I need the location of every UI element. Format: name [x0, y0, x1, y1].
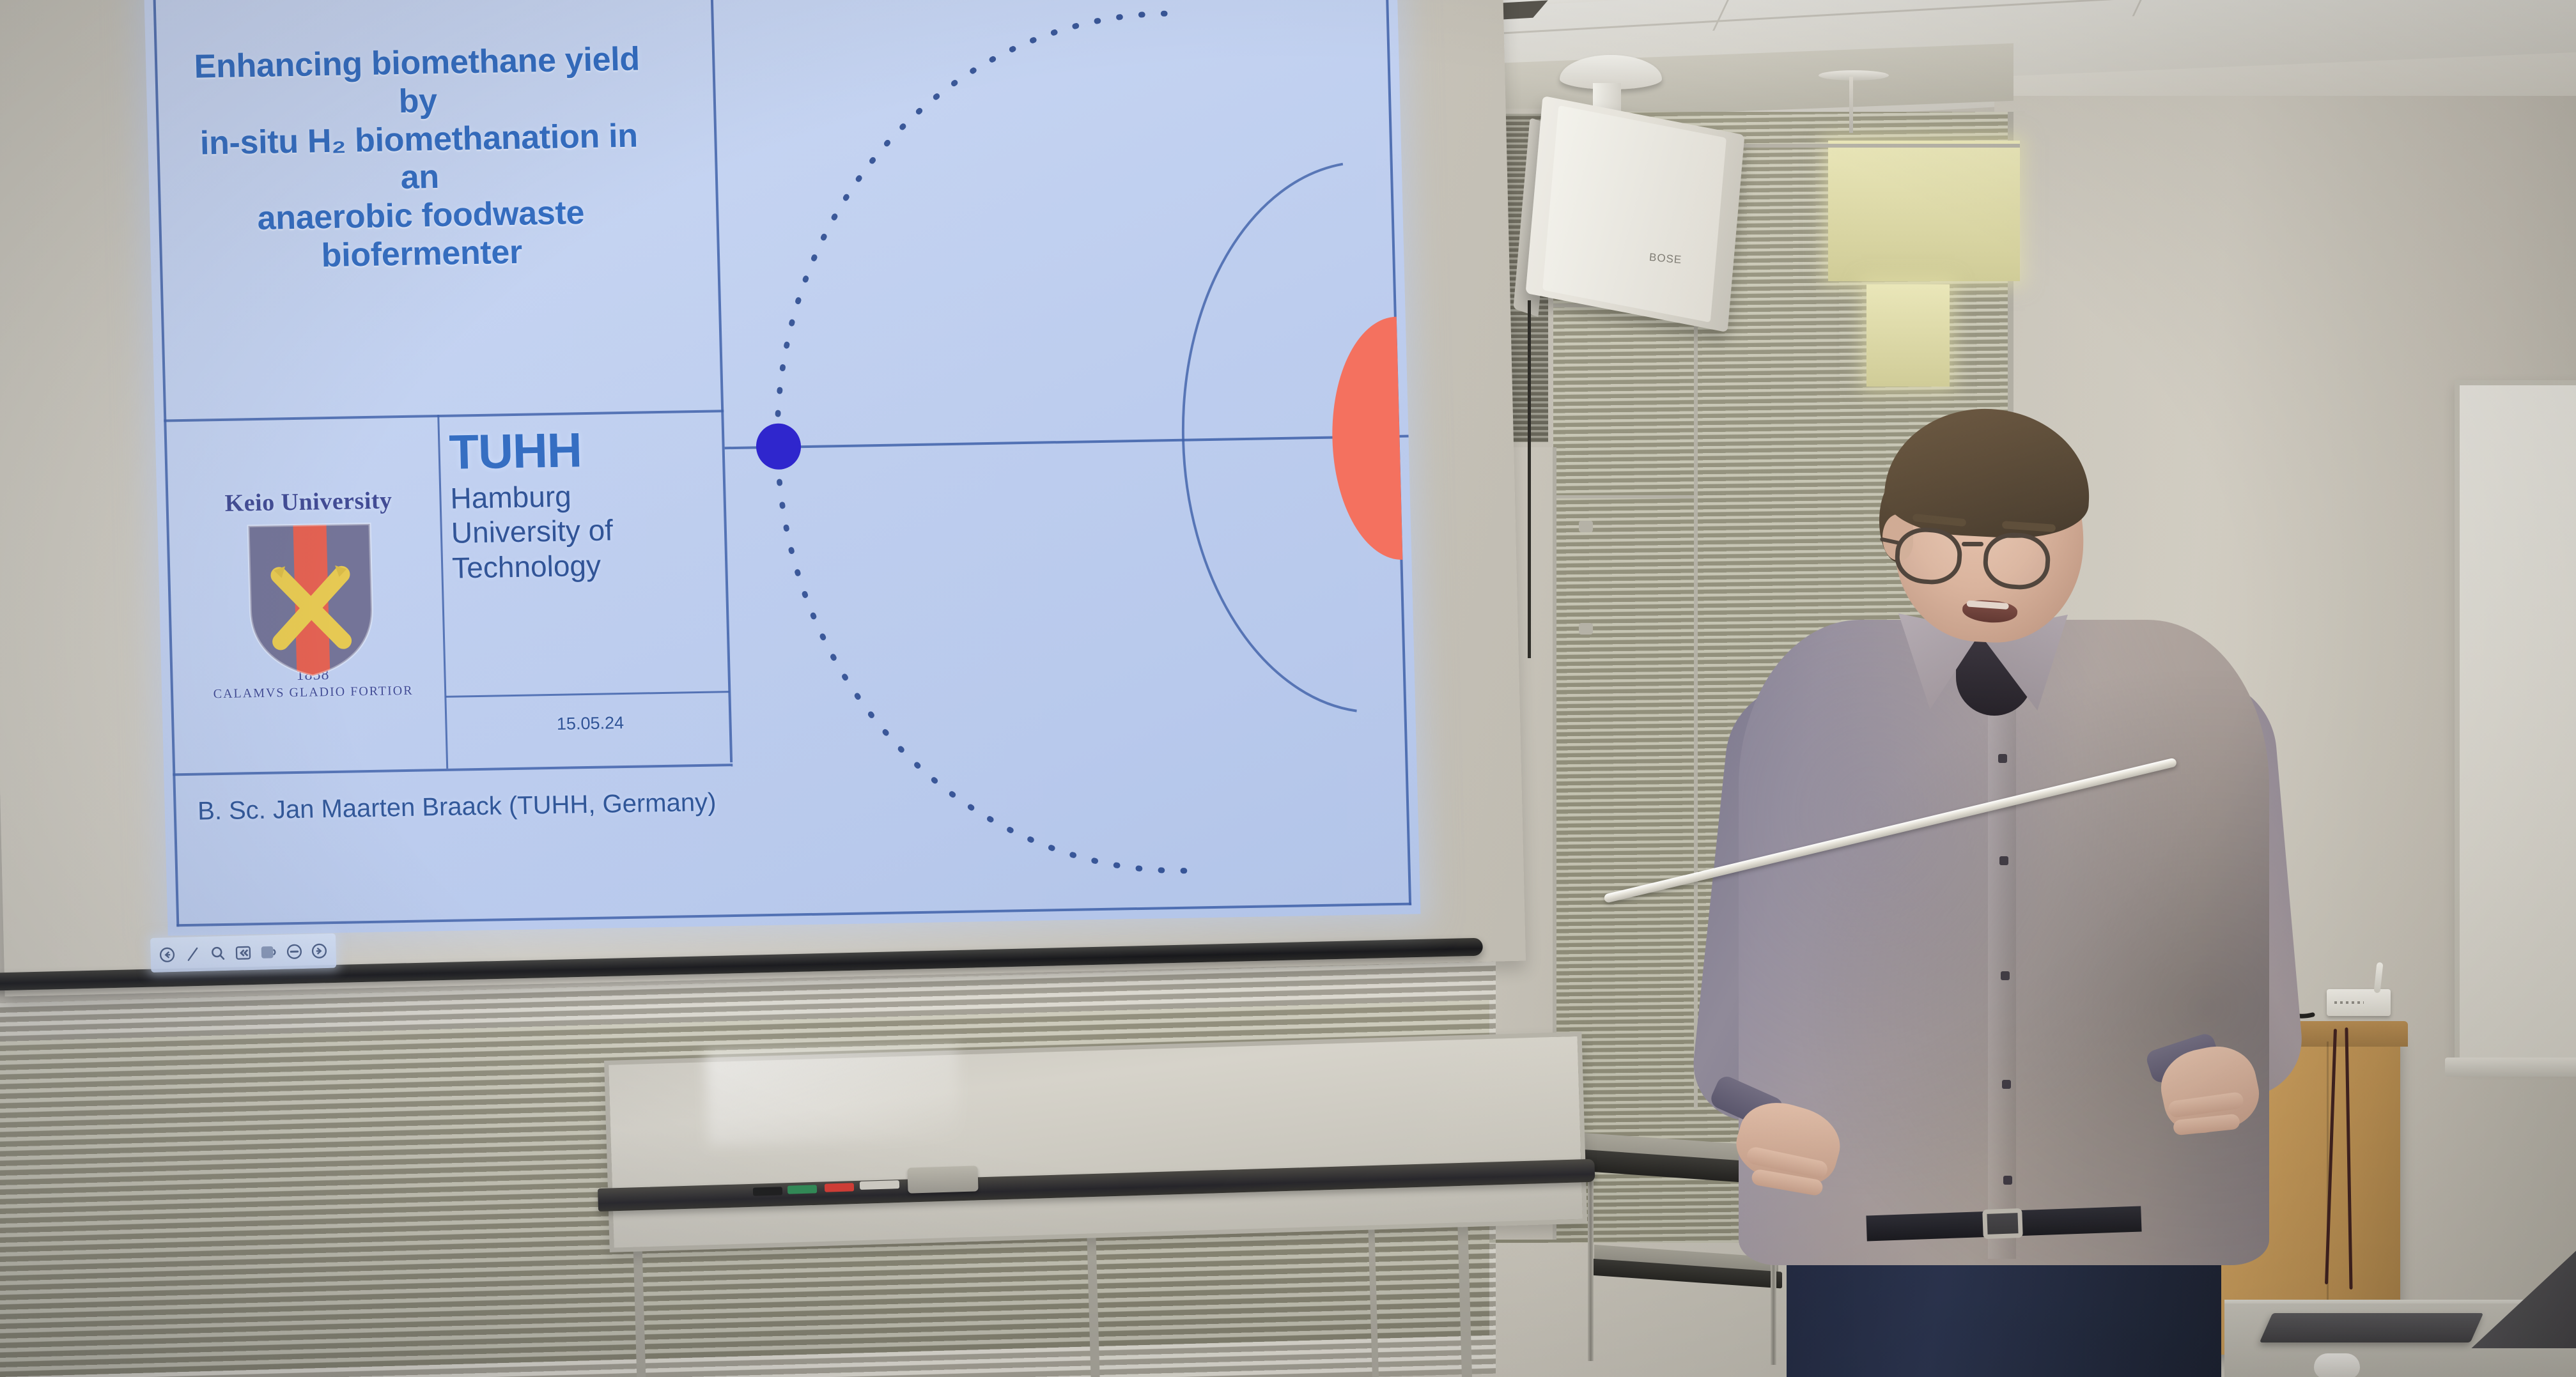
- shirt-button-4: [2002, 1080, 2011, 1089]
- presenter-person: [1688, 409, 2365, 1377]
- slide-title-line-2: in-situ H₂ biomethanation in an: [195, 117, 644, 201]
- wall-whiteboard-right-tray: [2445, 1058, 2576, 1077]
- tuhh-line-3: Technology: [452, 546, 721, 585]
- hide-icon[interactable]: [285, 942, 303, 962]
- wall-whiteboard-right: [2455, 380, 2576, 1064]
- projected-slide: Enhancing biomethane yield by in-situ H₂…: [144, 0, 1420, 936]
- dotted-arc: [766, 13, 1186, 877]
- slide-divider-horizontal-upper: [164, 410, 724, 422]
- belt-buckle: [1982, 1208, 2023, 1239]
- shirt-button-3: [2001, 971, 2010, 980]
- marker-red[interactable]: [825, 1183, 854, 1192]
- tuhh-logo: TUHH Hamburg University of Technology: [449, 424, 724, 696]
- sprinkler-icon: [1819, 70, 1889, 81]
- solid-arc: [1176, 164, 1356, 714]
- marker-white[interactable]: [860, 1180, 899, 1190]
- previous-slide-icon[interactable]: [234, 943, 252, 963]
- slide-title: Enhancing biomethane yield by in-situ H₂…: [193, 40, 646, 277]
- lecture-room-scene: Enhancing biomethane yield by in-situ H₂…: [0, 0, 2576, 1377]
- pen-icon[interactable]: [183, 944, 201, 964]
- marker-green[interactable]: [788, 1185, 817, 1194]
- blue-dot: [756, 423, 802, 470]
- shirt-button-1: [1998, 754, 2007, 763]
- marker-black[interactable]: [753, 1187, 782, 1196]
- window-glare-lower: [1866, 284, 1950, 387]
- ceiling-speaker: [1526, 96, 1745, 332]
- glasses-icon: [1895, 524, 2081, 581]
- back-arrow-icon[interactable]: [158, 945, 176, 965]
- slide-presenter-credit: B. Sc. Jan Maarten Braack (TUHH, Germany…: [185, 788, 729, 826]
- presenter-hair: [1882, 404, 2093, 542]
- tuhh-line-2: University of: [451, 511, 720, 551]
- whiteboard: [604, 1032, 1587, 1252]
- slide-title-line-3: anaerobic foodwaste: [197, 194, 645, 240]
- shirt-button-2: [1999, 856, 2008, 865]
- speaker-cable: [1528, 300, 1531, 658]
- shirt-button-5: [2003, 1176, 2012, 1185]
- tuhh-wordmark: TUHH: [449, 424, 718, 477]
- slide-title-line-4: biofermenter: [198, 231, 646, 277]
- tuhh-line-1: Hamburg: [450, 476, 719, 516]
- slide-decorative-graphic: [728, 0, 1411, 917]
- magnifier-icon[interactable]: [209, 944, 227, 964]
- keio-shield-icon: [235, 519, 386, 681]
- slide-title-line-1: Enhancing biomethane yield by: [193, 40, 642, 125]
- screen-icon[interactable]: [260, 942, 277, 962]
- keio-university-logo: Keio University: [176, 435, 446, 753]
- keio-motto: CALAMVS GLADIO FORTIOR: [213, 684, 413, 702]
- coral-semicircle: [1330, 317, 1403, 561]
- slide-date: 15.05.24: [456, 711, 725, 735]
- keio-name-label: Keio University: [224, 486, 392, 518]
- forward-arrow-icon[interactable]: [311, 941, 329, 961]
- whiteboard-eraser[interactable]: [907, 1165, 978, 1193]
- pdf-viewer-toolbar[interactable]: [150, 934, 336, 973]
- slide-divider-horizontal-lower: [173, 764, 733, 776]
- sprinkler-stem: [1849, 77, 1853, 133]
- window-glare-upper: [1828, 141, 2020, 281]
